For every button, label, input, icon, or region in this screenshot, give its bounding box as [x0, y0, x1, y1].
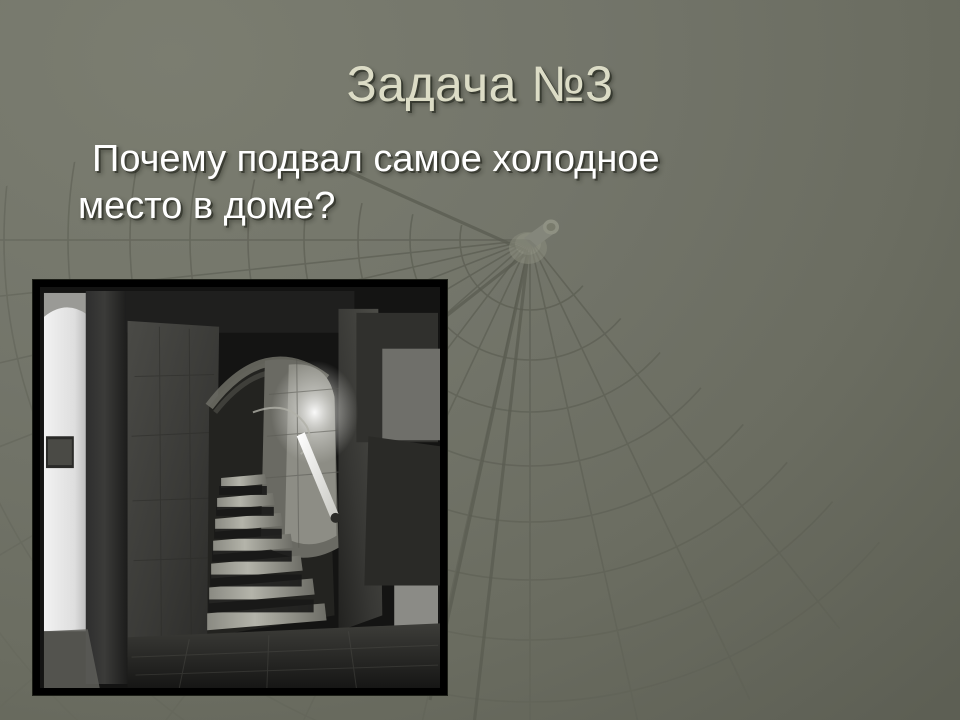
question-line-2: место в доме? — [78, 183, 878, 230]
slide-title: Задача №3 — [0, 55, 960, 113]
basement-photo-frame — [32, 279, 448, 696]
question-line-1: Почему подвал самое холодное — [78, 136, 878, 183]
question-text-block: Почему подвал самое холодное место в дом… — [78, 136, 878, 230]
basement-photo — [40, 287, 440, 688]
slide-canvas: Задача №3 Почему подвал самое холодное м… — [0, 0, 960, 720]
